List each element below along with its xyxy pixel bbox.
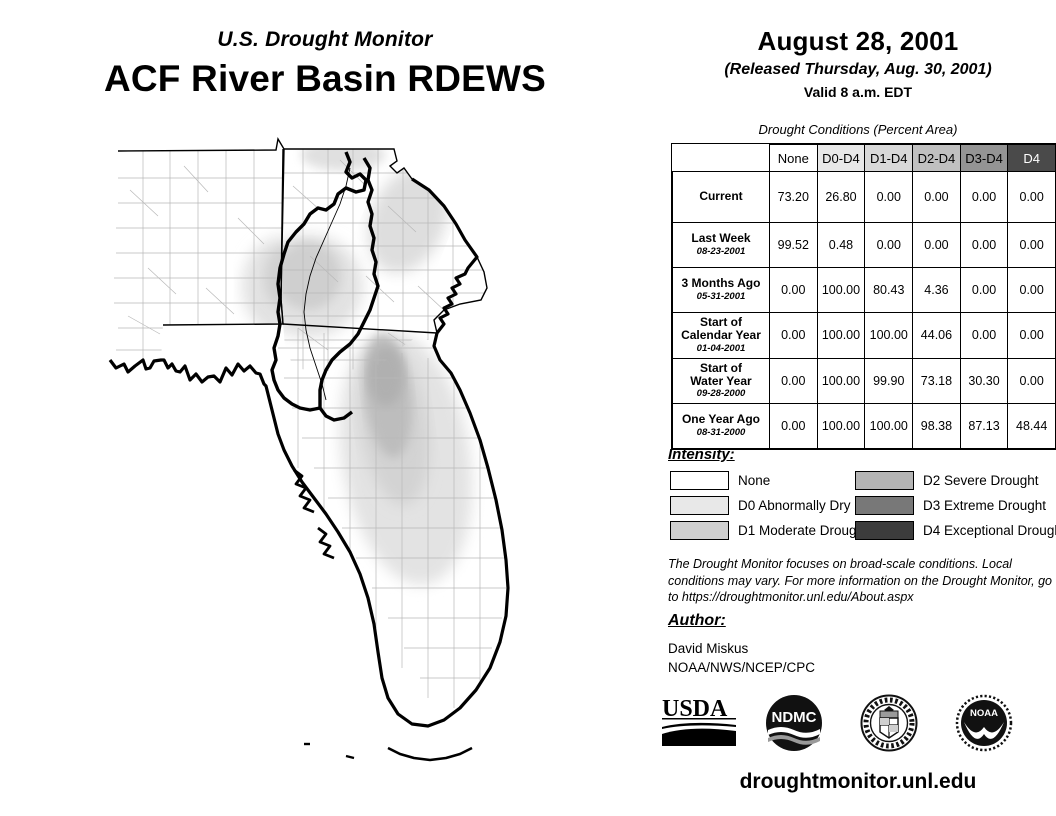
svg-text:NOAA: NOAA	[970, 708, 998, 719]
legend-swatch	[670, 521, 729, 540]
legend-swatch	[670, 496, 729, 515]
table-cell: 26.80	[817, 172, 865, 223]
table-row-label: Start ofCalendar Year01-04-2001	[673, 313, 770, 359]
table-row: Start ofCalendar Year01-04-20010.00100.0…	[673, 313, 1056, 359]
drought-map	[88, 128, 658, 800]
legend-swatch	[670, 471, 729, 490]
author-name: David Miskus	[668, 640, 815, 659]
table-cell: 48.44	[1008, 404, 1056, 449]
title-block: U.S. Drought Monitor ACF River Basin RDE…	[0, 28, 650, 100]
table-cell: 0.00	[769, 268, 817, 313]
map-date: August 28, 2001	[660, 26, 1056, 57]
table-row-date: 09-28-2000	[675, 389, 767, 400]
table-cell: 0.00	[960, 172, 1008, 223]
table-cell: 44.06	[913, 313, 961, 359]
noaa-logo: NOAA	[955, 694, 1013, 752]
table-cell: 0.00	[865, 223, 913, 268]
table-col-header-d0-d4: D0-D4	[817, 145, 865, 172]
table-cell: 80.43	[865, 268, 913, 313]
author-affiliation: NOAA/NWS/NCEP/CPC	[668, 659, 815, 678]
table-cell: 73.18	[913, 358, 961, 404]
table-header-row: NoneD0-D4D1-D4D2-D4D3-D4D4	[673, 145, 1056, 172]
legend-item-left-1: D0 Abnormally Dry	[670, 493, 868, 518]
d1-core-shading-central-florida	[368, 346, 404, 406]
author-heading: Author:	[668, 612, 726, 630]
release-date: (Released Thursday, Aug. 30, 2001)	[660, 61, 1056, 79]
table-col-header-d3-d4: D3-D4	[960, 145, 1008, 172]
legend-label: D0 Abnormally Dry	[738, 498, 851, 513]
table-row: 3 Months Ago05-31-20010.00100.0080.434.3…	[673, 268, 1056, 313]
legend-label: D3 Extreme Drought	[923, 498, 1046, 513]
table-cell: 0.00	[960, 268, 1008, 313]
supertitle: U.S. Drought Monitor	[0, 28, 650, 52]
ndmc-logo: NDMC	[765, 694, 823, 752]
intensity-heading: Intensity:	[668, 446, 735, 463]
table-cell: 87.13	[960, 404, 1008, 449]
legend-column-left: NoneD0 Abnormally DryD1 Moderate Drought	[670, 468, 868, 543]
table-cell: 98.38	[913, 404, 961, 449]
author-block: David Miskus NOAA/NWS/NCEP/CPC	[668, 640, 815, 678]
legend-swatch	[855, 521, 914, 540]
table-row-date: 08-23-2001	[675, 247, 767, 258]
table-cell: 100.00	[865, 313, 913, 359]
table-col-header-d4: D4	[1008, 145, 1056, 172]
table-cell: 100.00	[865, 404, 913, 449]
table-cell: 0.48	[817, 223, 865, 268]
table-row: Current73.2026.800.000.000.000.00	[673, 172, 1056, 223]
table-row-label: 3 Months Ago05-31-2001	[673, 268, 770, 313]
page-title: ACF River Basin RDEWS	[0, 58, 650, 100]
valid-time: Valid 8 a.m. EDT	[660, 84, 1056, 100]
legend-swatch	[855, 496, 914, 515]
table-row-label: Start ofWater Year09-28-2000	[673, 358, 770, 404]
table-cell: 0.00	[1008, 268, 1056, 313]
table-row: Start ofWater Year09-28-20000.00100.0099…	[673, 358, 1056, 404]
table-cell: 0.00	[769, 404, 817, 449]
table-row: Last Week08-23-200199.520.480.000.000.00…	[673, 223, 1056, 268]
legend-label: D1 Moderate Drought	[738, 523, 868, 538]
table-cell: 30.30	[960, 358, 1008, 404]
disclaimer-note: The Drought Monitor focuses on broad-sca…	[668, 556, 1056, 606]
table-row-label: One Year Ago08-31-2000	[673, 404, 770, 449]
table-row: One Year Ago08-31-20000.00100.00100.0098…	[673, 404, 1056, 449]
legend-label: D2 Severe Drought	[923, 473, 1039, 488]
table-body: Current73.2026.800.000.000.000.00Last We…	[673, 172, 1056, 449]
table-cell: 99.90	[865, 358, 913, 404]
legend-column-right: D2 Severe DroughtD3 Extreme DroughtD4 Ex…	[855, 468, 1056, 543]
website-url: droughtmonitor.unl.edu	[660, 770, 1056, 794]
svg-text:NDMC: NDMC	[772, 709, 817, 726]
table-cell: 0.00	[913, 223, 961, 268]
legend-item-right-2: D4 Exceptional Drought	[855, 518, 1056, 543]
table-cell: 0.00	[1008, 172, 1056, 223]
table-cell: 0.00	[913, 172, 961, 223]
table-cell: 0.00	[1008, 313, 1056, 359]
table-cell: 0.00	[769, 313, 817, 359]
table-cell: 73.20	[769, 172, 817, 223]
table-cell: 0.00	[769, 358, 817, 404]
table-row-date: 08-31-2000	[675, 428, 767, 439]
legend-label: D4 Exceptional Drought	[923, 523, 1056, 538]
usda-logo: USDA	[660, 694, 740, 750]
table-cell: 0.00	[960, 223, 1008, 268]
legend-item-right-1: D3 Extreme Drought	[855, 493, 1056, 518]
commerce-seal-logo	[860, 694, 918, 752]
table-cell: 100.00	[817, 358, 865, 404]
table-cell: 99.52	[769, 223, 817, 268]
d0-shading-north-georgia	[301, 139, 385, 171]
table-cell: 0.00	[960, 313, 1008, 359]
table-cell: 100.00	[817, 313, 865, 359]
table-row-date: 05-31-2001	[675, 292, 767, 303]
table-col-header-none: None	[769, 145, 817, 172]
table-caption: Drought Conditions (Percent Area)	[660, 122, 1056, 137]
logo-row: USDA NDMC NOAA	[655, 694, 1055, 756]
drought-conditions-table: NoneD0-D4D1-D4D2-D4D3-D4D4 Current73.202…	[672, 144, 1056, 449]
legend-item-left-2: D1 Moderate Drought	[670, 518, 868, 543]
table-corner-cell	[673, 145, 770, 172]
table-col-header-d1-d4: D1-D4	[865, 145, 913, 172]
table-cell: 0.00	[1008, 223, 1056, 268]
table-cell: 100.00	[817, 268, 865, 313]
legend-item-right-0: D2 Severe Drought	[855, 468, 1056, 493]
map-svg	[88, 128, 658, 800]
table-cell: 0.00	[865, 172, 913, 223]
table-cell: 0.00	[1008, 358, 1056, 404]
legend-label: None	[738, 473, 770, 488]
legend-swatch	[855, 471, 914, 490]
legend-item-left-0: None	[670, 468, 868, 493]
table-row-label: Last Week08-23-2001	[673, 223, 770, 268]
table-row-date: 01-04-2001	[675, 344, 767, 355]
table-row-label: Current	[673, 172, 770, 223]
date-block: August 28, 2001 (Released Thursday, Aug.…	[660, 26, 1056, 100]
table-cell: 4.36	[913, 268, 961, 313]
table-col-header-d2-d4: D2-D4	[913, 145, 961, 172]
table-cell: 100.00	[817, 404, 865, 449]
